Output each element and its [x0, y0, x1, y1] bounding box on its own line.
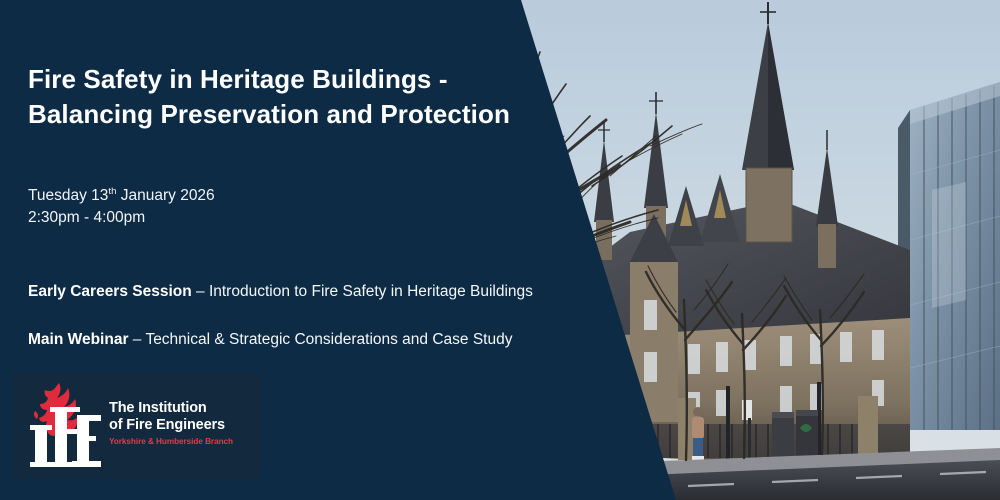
- webinar-banner: Fire Safety in Heritage Buildings - Bala…: [0, 0, 1000, 500]
- event-time: 2:30pm - 4:00pm: [28, 207, 215, 229]
- ife-logo: The Institution of Fire Engineers Yorksh…: [13, 373, 260, 478]
- logo-branch-name: Yorkshire & Humberside Branch: [109, 437, 259, 446]
- session-main-webinar-description: – Technical & Strategic Considerations a…: [128, 331, 512, 348]
- page-title: Fire Safety in Heritage Buildings - Bala…: [28, 62, 588, 131]
- event-date-month-year: January 2026: [116, 187, 214, 204]
- session-early-careers: Early Careers Session – Introduction to …: [28, 283, 533, 301]
- event-date: Tuesday 13th January 2026: [28, 185, 215, 207]
- logo-line-1: The Institution: [109, 400, 259, 417]
- banner-content: Fire Safety in Heritage Buildings - Bala…: [0, 0, 640, 500]
- logo-inner: The Institution of Fire Engineers Yorksh…: [13, 373, 260, 478]
- ife-monogram: [30, 407, 101, 467]
- session-early-careers-description: – Introduction to Fire Safety in Heritag…: [192, 283, 533, 300]
- session-early-careers-label: Early Careers Session: [28, 283, 192, 300]
- event-date-text: Tuesday 13: [28, 187, 108, 204]
- logo-line-2: of Fire Engineers: [109, 417, 259, 434]
- title-line-1: Fire Safety in Heritage Buildings -: [28, 62, 588, 97]
- uk-map-flame-icon: [29, 381, 105, 471]
- title-line-2: Balancing Preservation and Protection: [28, 97, 588, 132]
- glass-building: [898, 82, 1000, 430]
- logo-wordmark: The Institution of Fire Engineers Yorksh…: [109, 400, 259, 446]
- session-main-webinar: Main Webinar – Technical & Strategic Con…: [28, 331, 512, 349]
- session-main-webinar-label: Main Webinar: [28, 331, 128, 348]
- event-datetime: Tuesday 13th January 2026 2:30pm - 4:00p…: [28, 185, 215, 230]
